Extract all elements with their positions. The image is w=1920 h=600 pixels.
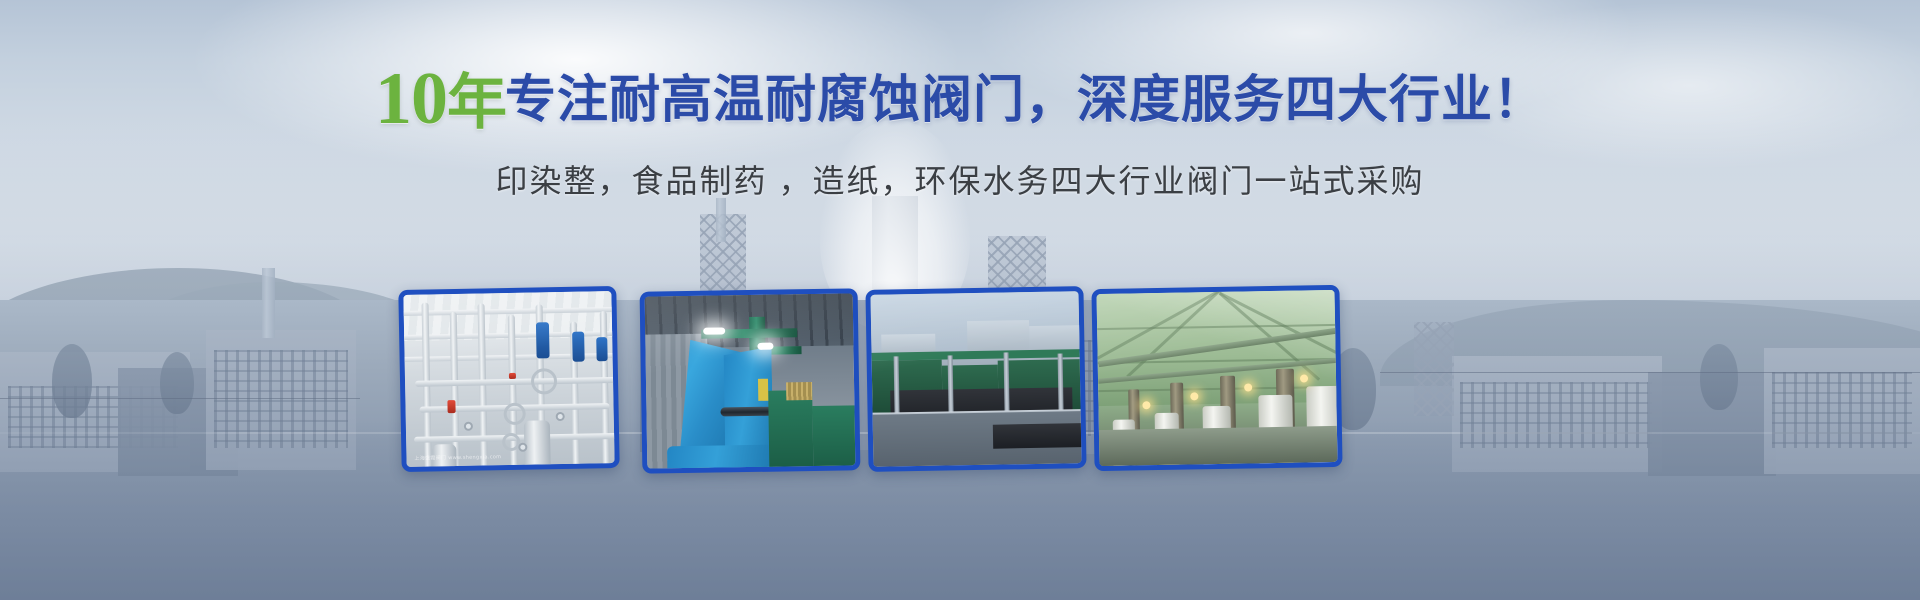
headline-years-number: 10 (375, 58, 447, 140)
photo-watermark: 上海盛霞阀门 www.shengxia.com (414, 453, 501, 462)
hero-banner: 10年专注耐高温耐腐蚀阀门，深度服务四大行业！ 印染整，食品制药 ，造纸，环保水… (0, 0, 1920, 600)
photo-valve (536, 322, 550, 358)
photo-green-corridor (1097, 290, 1338, 466)
photo-handwheel (531, 368, 557, 394)
thumbnail-image-paper-mill (871, 291, 1082, 467)
photo-machine-dark (993, 423, 1082, 449)
photo-gauge (464, 422, 473, 431)
photo-ceiling-lamp (1142, 401, 1150, 409)
photo-valve (447, 400, 455, 413)
subheadline: 印染整，食品制药 ，造纸，环保水务四大行业阀门一站式采购 (0, 156, 1920, 202)
thumbnail-food-pharma[interactable]: 上海盛霞阀门 www.shengxia.com (398, 286, 619, 472)
photo-valve (572, 332, 585, 362)
thumbnail-image-chemical-corridor (1097, 290, 1338, 466)
headline: 10年专注耐高温耐腐蚀阀门，深度服务四大行业！ (0, 62, 1920, 136)
photo-work-light (703, 327, 725, 334)
photo-paper-mill-yard (871, 291, 1082, 467)
thumbnail-strip: 上海盛霞阀门 www.shengxia.com (0, 276, 1920, 456)
photo-work-light (757, 343, 773, 350)
photo-fabric-roll (667, 445, 775, 469)
headline-years: 10年 (375, 58, 507, 140)
thumbnail-image-textile-dyeing (645, 293, 856, 468)
photo-tank (524, 420, 551, 467)
thumbnail-chemical-corridor[interactable] (1091, 285, 1342, 471)
photo-ceiling-lamp (1190, 392, 1198, 400)
banner-text-block: 10年专注耐高温耐腐蚀阀门，深度服务四大行业！ 印染整，食品制药 ，造纸，环保水… (0, 0, 1920, 230)
photo-valve (509, 373, 516, 379)
photo-control-panel (786, 382, 812, 400)
thumbnail-image-food-pharma: 上海盛霞阀门 www.shengxia.com (403, 291, 614, 467)
photo-machine-body (812, 405, 855, 468)
thumbnail-textile-dyeing[interactable] (640, 288, 861, 473)
photo-ceiling-lamp (1244, 383, 1252, 391)
headline-main-text: 专注耐高温耐腐蚀阀门，深度服务四大行业！ (505, 71, 1545, 128)
photo-stainless-skid: 上海盛霞阀门 www.shengxia.com (403, 291, 614, 467)
photo-floor (1099, 426, 1338, 466)
photo-valve (596, 337, 607, 361)
photo-machine-body (768, 390, 813, 469)
photo-control-panel (758, 379, 768, 401)
photo-dyeing-machine (645, 293, 856, 468)
thumbnail-paper-mill[interactable] (865, 286, 1086, 472)
photo-gauge (556, 412, 565, 421)
headline-years-unit: 年 (447, 69, 507, 136)
photo-handwheel (503, 403, 525, 425)
